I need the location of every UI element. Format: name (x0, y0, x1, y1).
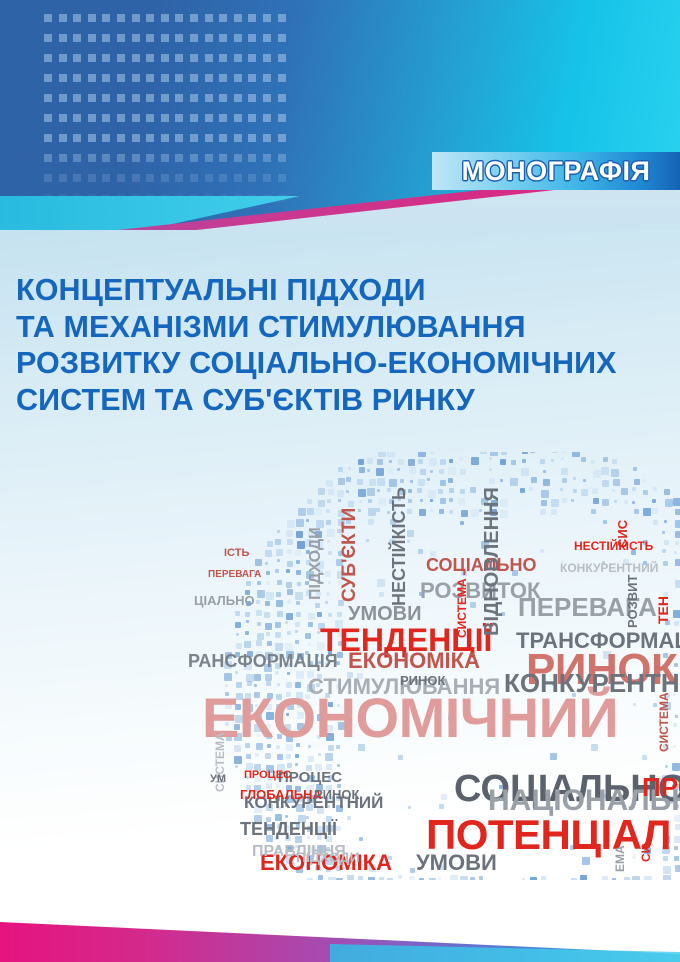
monograph-badge-label: МОНОГРАФІЯ (462, 156, 651, 187)
page-title: КОНЦЕПТУАЛЬНІ ПІДХОДИ ТА МЕХАНІЗМИ СТИМУ… (16, 272, 676, 418)
word-cloud-word: СИСТЕМА (658, 692, 670, 752)
word-cloud-word: КОНКУРЕНТНИЙ (504, 670, 680, 696)
word-cloud-word: УМОВИ (348, 604, 421, 624)
sphere-word-layer: ЕКОНОМІЧНИЙСОЦІАЛЬНОПОТЕНЦІАЛРИНОКТЕНДЕН… (188, 452, 680, 922)
title-line-1: КОНЦЕПТУАЛЬНІ ПІДХОДИ (16, 272, 676, 309)
title-line-3: РОЗВИТКУ СОЦІАЛЬНО-ЕКОНОМІЧНИХ (16, 345, 676, 382)
word-cloud-word: ЕМА (614, 845, 626, 872)
word-cloud-word: ТЕН (656, 596, 670, 624)
word-cloud-word: ВІДНОВЛЕННЯ (482, 487, 502, 636)
word-cloud-word: ПЕРЕВАГА (208, 570, 261, 580)
word-cloud-word: РАНСФОРМАЦІЯ (188, 652, 338, 670)
word-cloud-word: ПІДХОДИ (296, 850, 360, 864)
word-cloud-word: СИ (640, 845, 652, 862)
word-cloud-sphere: ЕКОНОМІЧНИЙСОЦІАЛЬНОПОТЕНЦІАЛРИНОКТЕНДЕН… (188, 452, 680, 922)
title-line-2: ТА МЕХАНІЗМИ СТИМУЛЮВАННЯ (16, 309, 676, 346)
monograph-badge: МОНОГРАФІЯ (432, 152, 680, 190)
word-cloud-word: ПРО (642, 774, 680, 800)
title-line-4: СИСТЕМ ТА СУБ'ЄКТІВ РИНКУ (16, 382, 676, 419)
book-cover: МОНОГРАФІЯ КОНЦЕПТУАЛЬНІ ПІДХОДИ ТА МЕХА… (0, 0, 680, 962)
word-cloud-word: ІСТЬ (224, 548, 249, 559)
word-cloud-word: УМОВИ (416, 852, 497, 874)
word-cloud-word: СИСТЕМА (456, 578, 468, 638)
word-cloud-word: КОНКУРЕНТНИЙ (560, 562, 658, 574)
word-cloud-word: ГЛОБАЛЬНА (240, 788, 322, 801)
word-cloud-word: ПРОЦЕС (244, 770, 291, 781)
word-cloud-word: НЕСТІЙКІСТЬ (390, 487, 408, 606)
word-cloud-word: СУБ'ЄКТИ (340, 508, 359, 602)
word-cloud-word: ПІДХОДИ (308, 527, 324, 600)
word-cloud-word: УМ (210, 774, 226, 785)
word-cloud-word: ЦІАЛЬНО (194, 594, 255, 607)
word-cloud-word: НЕСТІЙКІСТЬ (574, 540, 653, 552)
word-cloud-word: СИС (616, 520, 629, 548)
word-cloud-word: РИНОК (400, 674, 445, 687)
word-cloud-word: ТЕНДЕНЦІЇ (240, 820, 337, 838)
word-cloud-word: ЕКОНОМІКА (348, 650, 480, 672)
word-cloud-word: РИНОК (314, 788, 359, 801)
word-cloud-word: ТРАНСФОРМАЦІЯ (516, 630, 680, 652)
cover-header-band (0, 0, 680, 230)
word-cloud-word: РОЗВИТ (626, 575, 639, 628)
